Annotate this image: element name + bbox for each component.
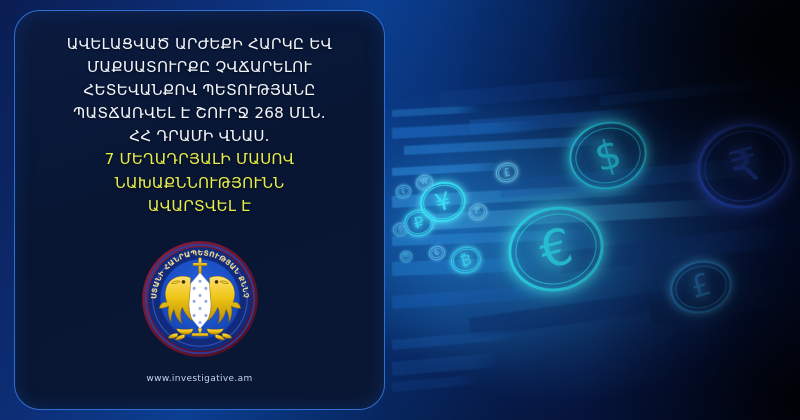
coin-symbol-glyph: ₩ xyxy=(419,177,429,187)
investigative-committee-emblem-icon: ՀԱՅԱՍՏԱՆԻ ՀԱՆՐԱՊԵՏՈՒԹՅԱՆ ՔՆՆՉԱԿԱՆ ԿՈՄԻՏԵ xyxy=(141,240,259,358)
emblem-container: ՀԱՅԱՍՏԱՆԻ ՀԱՆՐԱՊԵՏՈՒԹՅԱՆ ՔՆՆՉԱԿԱՆ ԿՈՄԻՏԵ xyxy=(141,240,259,358)
light-streak xyxy=(392,162,512,176)
headline-line-1: ԱՎԵԼԱՑՎԱԾ ԱՐԺԵՔԻ ՀԱՐԿԸ ԵՎ xyxy=(67,33,332,56)
light-streak xyxy=(392,105,482,117)
light-streak xyxy=(391,352,502,376)
headline-line-4: ՊԱՏՃԱՌՎԵԼ Է ՇՈՒՐՋ 268 ՄԼՆ. xyxy=(67,102,332,125)
subline-line-1: 7 ՄԵՂԱԴՐՅԱԼԻ ՄԱՍՈՎ xyxy=(105,148,295,171)
subline-line-2: ՆԱԽԱՔՆՆՈՒԹՅՈՒՆՆ xyxy=(105,172,295,195)
website-url[interactable]: www.investigative.am xyxy=(146,374,252,384)
poster-root: ₹$€£¥₽₿£₱₩₺¢₫₪ ԱՎԵԼԱՑՎԱԾ ԱՐԺԵՔԻ ՀԱՐԿԸ ԵՎ… xyxy=(0,0,800,420)
coin-symbol-glyph: ¢ xyxy=(400,188,406,196)
coin-symbol-glyph: ₺ xyxy=(434,248,441,257)
coin-symbol-glyph: £ xyxy=(502,167,511,179)
headline-text: ԱՎԵԼԱՑՎԱԾ ԱՐԺԵՔԻ ՀԱՐԿԸ ԵՎՄԱՔՍԱՏՈՒՐՔԸ ՉՎՃ… xyxy=(67,33,332,148)
headline-line-2: ՄԱՔՍԱՏՈՒՐՔԸ ՉՎՃԱՐԵԼՈՒ xyxy=(67,56,332,79)
light-streak xyxy=(392,329,522,350)
headline-line-3: ՀԵՏԵՎԱՆՔՈՎ ՊԵՏՈՒԹՅԱՆԸ xyxy=(67,79,332,102)
headline-line-5: ՀՀ ԴՐԱՄԻ ՎՆԱՍ. xyxy=(67,125,332,148)
text-card: ԱՎԵԼԱՑՎԱԾ ԱՐԺԵՔԻ ՀԱՐԿԸ ԵՎՄԱՔՍԱՏՈՒՐՔԸ ՉՎՃ… xyxy=(14,10,385,410)
coin-symbol-glyph: ₫ xyxy=(397,226,403,234)
light-streak xyxy=(392,374,483,392)
subline-line-3: ԱՎԱՐՏՎԵԼ Է xyxy=(105,195,295,218)
subline-text: 7 ՄԵՂԱԴՐՅԱԼԻ ՄԱՍՈՎՆԱԽԱՔՆՆՈՒԹՅՈՒՆՆԱՎԱՐՏՎԵ… xyxy=(105,148,295,217)
